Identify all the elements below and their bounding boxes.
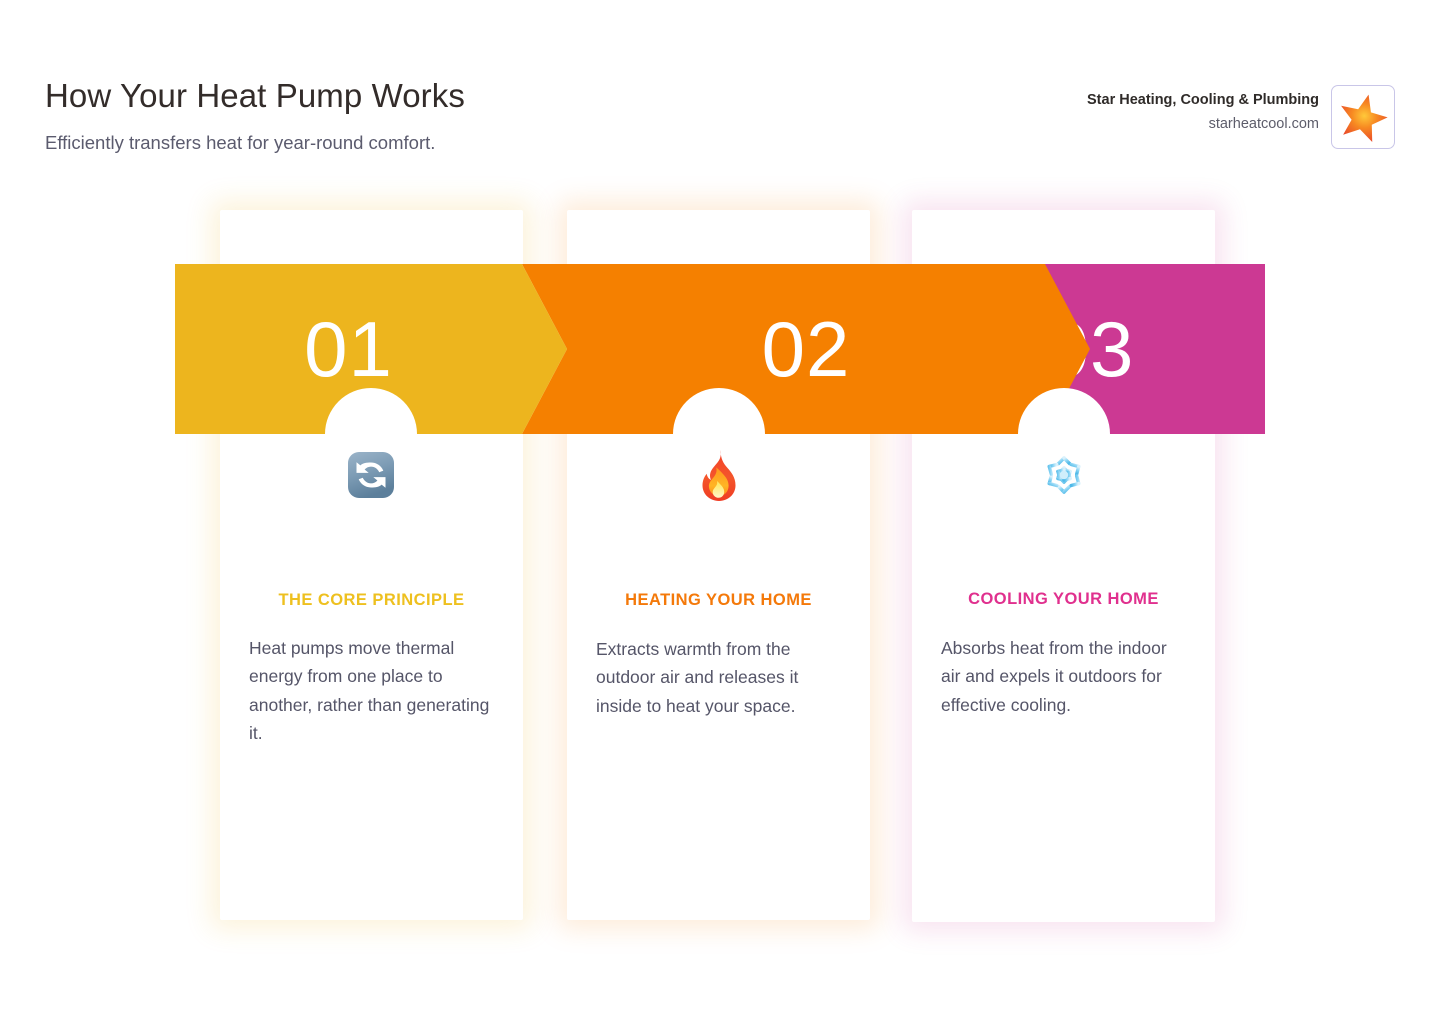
step-label-3: COOLING YOUR HOME <box>912 590 1215 609</box>
step-number-2: 02 <box>762 310 851 388</box>
refresh-cycle-icon <box>345 449 397 501</box>
steps-container <box>0 0 1440 1024</box>
step-number-1: 01 <box>304 310 393 388</box>
step-band-2: 02 <box>522 264 1090 434</box>
step-body-2: Extracts warmth from the outdoor air and… <box>596 635 848 720</box>
fire-icon <box>694 448 744 502</box>
step-icon-3 <box>1035 446 1093 504</box>
step-body-1: Heat pumps move thermal energy from one … <box>249 634 499 747</box>
step-label-1: THE CORE PRINCIPLE <box>220 591 523 610</box>
infographic-page: How Your Heat Pump Works Efficiently tra… <box>0 0 1440 1024</box>
step-icon-1 <box>342 446 400 504</box>
step-label-2: HEATING YOUR HOME <box>567 591 870 610</box>
step-icon-2 <box>690 446 748 504</box>
step-body-3: Absorbs heat from the indoor air and exp… <box>941 634 1186 719</box>
snowflake-icon <box>1037 448 1091 502</box>
